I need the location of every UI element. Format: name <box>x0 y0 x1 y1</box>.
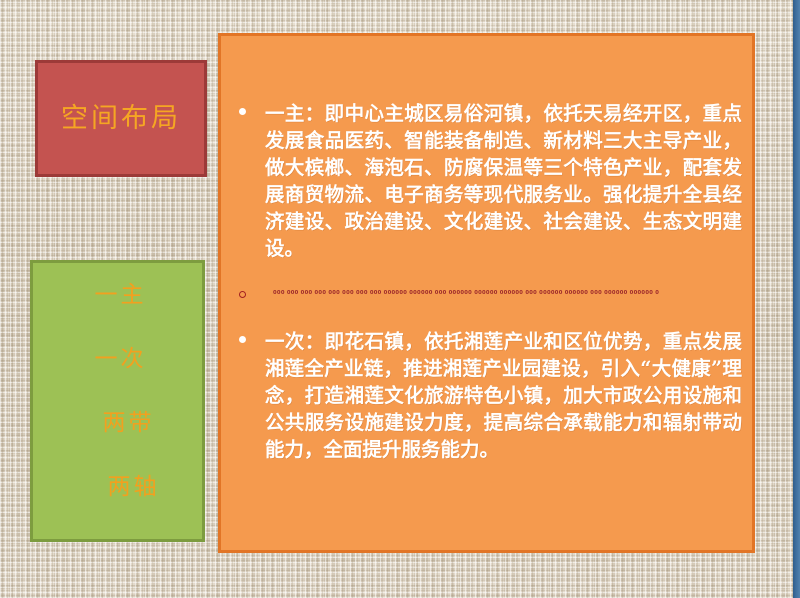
list-item-yizhu: 一主 <box>39 284 202 307</box>
bullet-text-secondary-center: 一次：即花石镇，依托湘莲产业和区位优势，重点发展湘莲全产业链，推进湘莲产业园建设… <box>265 328 746 463</box>
list-item-liangzhou: 两轴 <box>39 476 202 499</box>
bullet-item-secondary-center: 一次：即花石镇，依托湘莲产业和区位优势，重点发展湘莲全产业链，推进湘莲产业园建设… <box>227 328 746 463</box>
list-item-yici: 一次 <box>39 348 202 371</box>
filled-round-bullet-icon <box>227 100 265 127</box>
filled-round-bullet-icon <box>227 328 265 355</box>
spatial-layout-list-box[interactable]: 一主 一次 两带 两轴 <box>30 260 205 542</box>
bullet-item-primary-center: 一主：即中心主城区易俗河镇，依托天易经开区，重点发展食品医药、智能装备制造、新材… <box>227 100 746 262</box>
bullet-text-subnote: 000 000 000 000 000 000 000 000 000000 0… <box>265 288 746 298</box>
list-item-liangdai: 两带 <box>39 412 202 435</box>
page-title: 空间布局 <box>61 104 181 134</box>
title-box[interactable]: 空间布局 <box>35 60 207 177</box>
bullet-item-subnote: 000 000 000 000 000 000 000 000 000000 0… <box>227 288 746 302</box>
bullet-text-primary-center: 一主：即中心主城区易俗河镇，依托天易经开区，重点发展食品医药、智能装备制造、新材… <box>265 100 746 262</box>
content-box[interactable]: 一主：即中心主城区易俗河镇，依托天易经开区，重点发展食品医药、智能装备制造、新材… <box>218 33 755 553</box>
right-edge-strip <box>793 0 800 598</box>
hollow-round-bullet-icon <box>227 288 265 302</box>
